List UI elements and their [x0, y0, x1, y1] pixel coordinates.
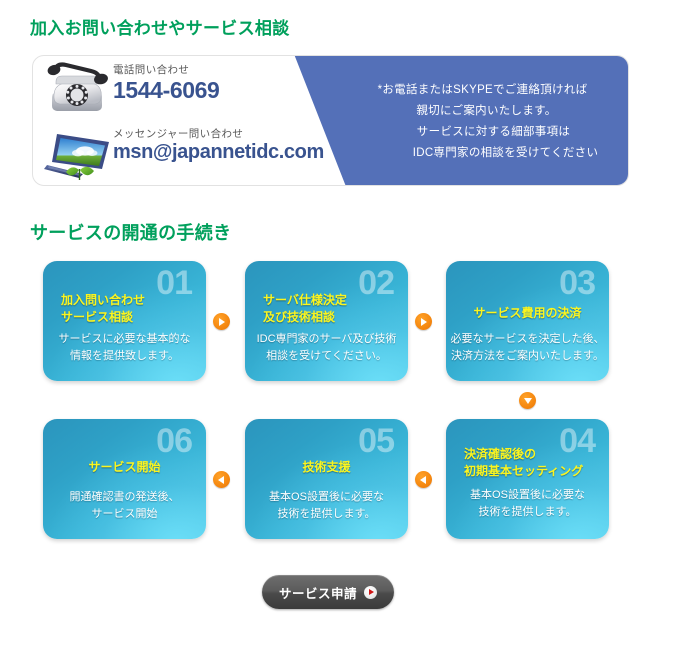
step-desc-line: サービス開始	[43, 506, 206, 523]
step-desc-line: 情報を提供致します。	[43, 348, 206, 365]
step-desc-line: 技術を提供します。	[245, 506, 408, 523]
contact-info-card: 電話問い合わせ 1544-6069	[32, 55, 629, 186]
step-desc-line: IDC専門家のサーバ及び技術	[245, 331, 408, 348]
step-title: サービス費用の決済	[446, 305, 609, 322]
step-number: 06	[156, 423, 192, 460]
step-title: 加入問い合わせ サービス相談	[43, 292, 206, 326]
step-title: サーバ仕様決定 及び技術相談	[245, 292, 408, 326]
contact-row-messenger: メッセンジャー問い合わせ msn@japannetidc.com	[33, 122, 333, 184]
arrow-step2-to-step3-icon	[415, 313, 432, 330]
step-title-line: サービス相談	[61, 309, 206, 326]
step-description: 開通確認書の発送後、 サービス開始	[43, 489, 206, 523]
step-title-line: 及び技術相談	[263, 309, 408, 326]
contact-messenger-text: メッセンジャー問い合わせ msn@japannetidc.com	[113, 126, 324, 163]
contact-phone-value: 1544-6069	[113, 78, 219, 102]
steps-section-heading: サービスの開通の手続き	[30, 219, 231, 245]
step-desc-line: サービスに必要な基本的な	[43, 331, 206, 348]
step-title: サービス開始	[43, 459, 206, 476]
page-root: 加入お問い合わせやサービス相談	[0, 0, 680, 650]
step-card-02[interactable]: 02 サーバ仕様決定 及び技術相談 IDC専門家のサーバ及び技術 相談を受けてく…	[245, 261, 408, 381]
step-desc-line: 技術を提供します。	[446, 504, 609, 521]
step-title-line: サービス費用の決済	[446, 305, 609, 322]
step-title-line: 決済確認後の	[464, 446, 609, 463]
step-desc-line: 決済方法をご案内いたします。	[446, 348, 609, 365]
step-desc-line: 相談を受けてください。	[245, 348, 408, 365]
rotary-telephone-icon	[39, 58, 115, 118]
arrow-step5-to-step6-icon	[213, 471, 230, 488]
step-desc-line: 基本OS設置後に必要な	[446, 487, 609, 504]
contact-methods-panel: 電話問い合わせ 1544-6069	[33, 56, 333, 186]
step-description: 基本OS設置後に必要な 技術を提供します。	[446, 487, 609, 521]
laptop-computer-icon	[39, 122, 115, 182]
step-desc-line: 必要なサービスを決定した後、	[446, 331, 609, 348]
step-desc-line: 基本OS設置後に必要な	[245, 489, 408, 506]
step-title-line: 初期基本セッティング	[464, 463, 609, 480]
contact-note-line: *お電話またはSKYPEでご連絡頂ければ	[335, 80, 629, 101]
step-card-06[interactable]: 06 サービス開始 開通確認書の発送後、 サービス開始	[43, 419, 206, 539]
contact-messenger-value: msn@japannetidc.com	[113, 142, 324, 163]
step-card-03[interactable]: 03 サービス費用の決済 必要なサービスを決定した後、 決済方法をご案内いたしま…	[446, 261, 609, 381]
contact-section-heading: 加入お問い合わせやサービス相談	[30, 14, 290, 39]
contact-note-text: *お電話またはSKYPEでご連絡頂ければ 親切にご案内いたします。 サービスに対…	[333, 80, 629, 164]
step-number: 05	[358, 423, 394, 460]
step-description: サービスに必要な基本的な 情報を提供致します。	[43, 331, 206, 365]
contact-note-line: 親切にご案内いたします。	[343, 101, 629, 122]
arrow-step4-to-step5-icon	[415, 471, 432, 488]
step-desc-line: 開通確認書の発送後、	[43, 489, 206, 506]
contact-note-line: IDC専門家の相談を受けてください	[381, 143, 629, 164]
arrow-step1-to-step2-icon	[213, 313, 230, 330]
arrow-step3-to-step4-icon	[519, 392, 536, 409]
play-arrow-circle-icon	[364, 586, 377, 599]
step-card-05[interactable]: 05 技術支援 基本OS設置後に必要な 技術を提供します。	[245, 419, 408, 539]
step-description: IDC専門家のサーバ及び技術 相談を受けてください。	[245, 331, 408, 365]
step-title-line: サービス開始	[43, 459, 206, 476]
contact-row-phone: 電話問い合わせ 1544-6069	[33, 58, 333, 120]
step-description: 必要なサービスを決定した後、 決済方法をご案内いたします。	[446, 331, 609, 365]
step-card-04[interactable]: 04 決済確認後の 初期基本セッティング 基本OS設置後に必要な 技術を提供しま…	[446, 419, 609, 539]
contact-messenger-label: メッセンジャー問い合わせ	[113, 126, 324, 141]
contact-phone-text: 電話問い合わせ 1544-6069	[113, 62, 219, 102]
step-title-line: 技術支援	[245, 459, 408, 476]
step-number: 03	[559, 265, 595, 302]
service-apply-button[interactable]: サービス申請	[262, 575, 394, 609]
step-card-01[interactable]: 01 加入問い合わせ サービス相談 サービスに必要な基本的な 情報を提供致します…	[43, 261, 206, 381]
step-title-line: 加入問い合わせ	[61, 292, 206, 309]
step-title: 決済確認後の 初期基本セッティング	[446, 446, 609, 480]
contact-note-line: サービスに対する細部事項は	[357, 122, 629, 143]
step-title-line: サーバ仕様決定	[263, 292, 408, 309]
step-description: 基本OS設置後に必要な 技術を提供します。	[245, 489, 408, 523]
service-apply-button-label: サービス申請	[279, 583, 357, 602]
contact-phone-label: 電話問い合わせ	[113, 62, 219, 77]
step-title: 技術支援	[245, 459, 408, 476]
